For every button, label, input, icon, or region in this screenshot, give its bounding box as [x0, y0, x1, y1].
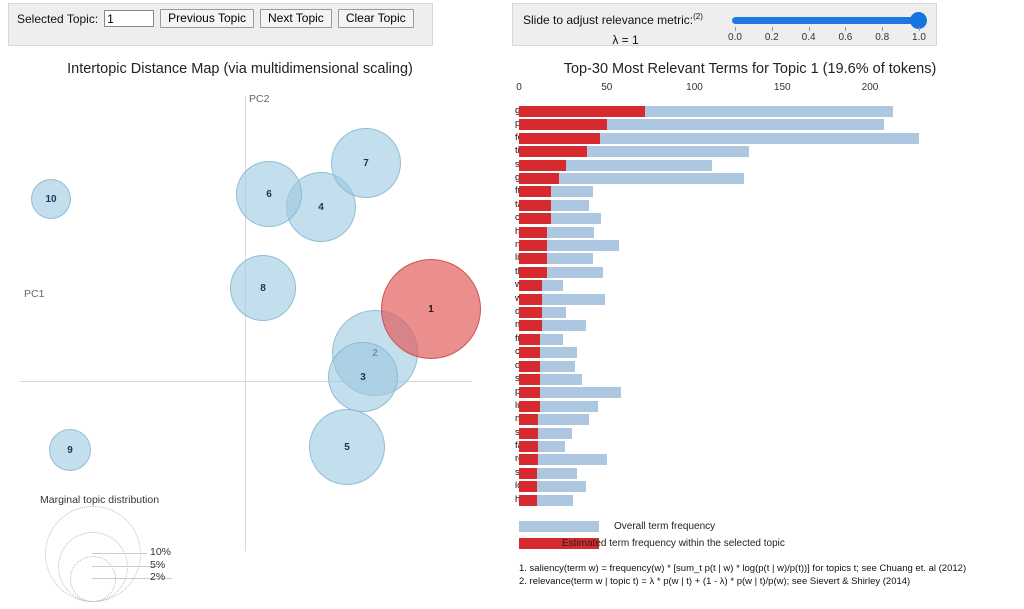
bar-row[interactable]: service	[490, 160, 1024, 172]
x-axis-tick-label: 0	[516, 82, 522, 93]
x-axis-tick-label: 200	[862, 82, 879, 93]
pc2-axis-label: PC2	[249, 93, 269, 105]
estimated-frequency-bar[interactable]	[519, 495, 537, 506]
slider-tick-label: 0.2	[765, 32, 779, 43]
estimated-frequency-bar[interactable]	[519, 240, 547, 251]
bar-row[interactable]: dinner	[490, 361, 1024, 373]
estimated-frequency-bar[interactable]	[519, 374, 540, 385]
slider-tick	[882, 27, 883, 31]
topic-bubble-10[interactable]: 10	[31, 179, 71, 219]
bar-row[interactable]: nice	[490, 240, 1024, 252]
estimated-frequency-bar[interactable]	[519, 361, 540, 372]
estimated-frequency-bar[interactable]	[519, 267, 547, 278]
bar-row[interactable]: small	[490, 468, 1024, 480]
slider-tick-label: 0.4	[802, 32, 816, 43]
pc2-axis-line	[245, 96, 246, 551]
estimated-frequency-bar[interactable]	[519, 213, 551, 224]
legend-swatch-overall	[519, 521, 599, 532]
marginal-topic-distribution-legend: Marginal topic distribution 2%5%10%	[40, 494, 240, 609]
selected-topic-label: Selected Topic:	[17, 12, 98, 26]
estimated-frequency-bar[interactable]	[519, 106, 645, 117]
topic-bubble-6[interactable]: 6	[236, 161, 302, 227]
bar-row[interactable]: cheese	[490, 347, 1024, 359]
relevance-control-bar: Slide to adjust relevance metric:(2) λ =…	[512, 3, 937, 46]
bar-row[interactable]: favorite	[490, 441, 1024, 453]
bar-row[interactable]: mexican	[490, 320, 1024, 332]
bar-row[interactable]: price	[490, 387, 1024, 399]
estimated-frequency-bar[interactable]	[519, 387, 540, 398]
bar-row[interactable]: time	[490, 146, 1024, 158]
estimated-frequency-bar[interactable]	[519, 160, 566, 171]
estimated-frequency-bar[interactable]	[519, 146, 587, 157]
legend-label-estimated: Estimated term frequency within the sele…	[562, 538, 785, 549]
marginal-legend-title: Marginal topic distribution	[40, 494, 240, 506]
slider-caption-text: Slide to adjust relevance metric:	[523, 13, 693, 27]
estimated-frequency-bar[interactable]	[519, 200, 551, 211]
estimated-frequency-bar[interactable]	[519, 468, 537, 479]
bar-row[interactable]: thing	[490, 267, 1024, 279]
previous-topic-button[interactable]: Previous Topic	[160, 9, 254, 28]
slider-tick-label: 0.6	[838, 32, 852, 43]
bar-row[interactable]: happy	[490, 495, 1024, 507]
slider-tick-label: 0.8	[875, 32, 889, 43]
bar-row[interactable]: drink	[490, 307, 1024, 319]
estimated-frequency-bar[interactable]	[519, 414, 538, 425]
bar-row[interactable]: well	[490, 294, 1024, 306]
estimated-frequency-bar[interactable]	[519, 441, 538, 452]
relevance-slider[interactable]: 0.00.20.40.60.81.0	[728, 11, 928, 45]
marginal-size-label: 5%	[150, 559, 165, 571]
bar-row[interactable]: love	[490, 481, 1024, 493]
estimated-frequency-bar[interactable]	[519, 133, 600, 144]
bar-row[interactable]: food	[490, 133, 1024, 145]
bar-chart-x-axis: 050100150200	[490, 82, 1024, 98]
x-axis-tick-label: 50	[601, 82, 612, 93]
estimated-frequency-bar[interactable]	[519, 227, 547, 238]
bar-row[interactable]: water	[490, 280, 1024, 292]
footnote-2: 2. relevance(term w | topic t) = λ * p(w…	[519, 576, 910, 587]
bar-row[interactable]: fry	[490, 334, 1024, 346]
marginal-leader-line	[92, 553, 147, 554]
footnote-1: 1. saliency(term w) = frequency(w) * [su…	[519, 563, 966, 574]
topic-bubble-3[interactable]: 3	[328, 342, 398, 412]
slider-tick	[919, 27, 920, 31]
slider-tick	[735, 27, 736, 31]
marginal-size-label: 10%	[150, 546, 171, 558]
bar-row[interactable]: great	[490, 173, 1024, 185]
slider-tick	[772, 27, 773, 31]
x-axis-tick-label: 100	[686, 82, 703, 93]
selected-topic-input[interactable]	[104, 10, 154, 27]
bar-row[interactable]: sauce	[490, 374, 1024, 386]
bar-row[interactable]: friend	[490, 186, 1024, 198]
topic-bubble-8[interactable]: 8	[230, 255, 296, 321]
slider-tick	[809, 27, 810, 31]
estimated-frequency-bar[interactable]	[519, 481, 537, 492]
bar-row[interactable]: chicken	[490, 213, 1024, 225]
pc1-axis-label: PC1	[24, 288, 44, 300]
estimated-frequency-bar[interactable]	[519, 307, 542, 318]
next-topic-button[interactable]: Next Topic	[260, 9, 332, 28]
estimated-frequency-bar[interactable]	[519, 334, 540, 345]
x-axis-tick-label: 150	[774, 82, 791, 93]
bar-row[interactable]: good	[490, 106, 1024, 118]
bar-row[interactable]: restaurant	[490, 454, 1024, 466]
estimated-frequency-bar[interactable]	[519, 253, 547, 264]
estimated-frequency-bar[interactable]	[519, 294, 542, 305]
estimated-frequency-bar[interactable]	[519, 320, 542, 331]
estimated-frequency-bar[interactable]	[519, 428, 538, 439]
intertopic-map-title: Intertopic Distance Map (via multidimens…	[0, 61, 480, 77]
bar-row[interactable]: place	[490, 119, 1024, 131]
estimated-frequency-bar[interactable]	[519, 186, 551, 197]
intertopic-distance-map: PC2 PC1 12345678910 Marginal topic distr…	[0, 82, 490, 609]
bar-row[interactable]: table	[490, 200, 1024, 212]
bar-row[interactable]: hour	[490, 227, 1024, 239]
marginal-size-label: 2%	[150, 571, 165, 583]
slider-tick-label: 1.0	[912, 32, 926, 43]
estimated-frequency-bar[interactable]	[519, 347, 540, 358]
estimated-frequency-bar[interactable]	[519, 401, 540, 412]
bar-row[interactable]: night	[490, 414, 1024, 426]
lambda-value-label: λ = 1	[523, 33, 728, 47]
slider-tick-label: 0.0	[728, 32, 742, 43]
topic-bubble-5[interactable]: 5	[309, 409, 385, 485]
estimated-frequency-bar[interactable]	[519, 119, 607, 130]
slider-tick	[845, 27, 846, 31]
top-terms-title: Top-30 Most Relevant Terms for Topic 1 (…	[500, 61, 1000, 77]
slider-caption-footnote-ref: (2)	[693, 12, 703, 21]
topic-bubble-9[interactable]: 9	[49, 429, 91, 471]
topic-bubble-7[interactable]: 7	[331, 128, 401, 198]
bar-row[interactable]: lunch	[490, 401, 1024, 413]
estimated-frequency-bar[interactable]	[519, 173, 559, 184]
bar-row[interactable]: sandwich	[490, 428, 1024, 440]
slider-track[interactable]	[732, 17, 924, 24]
estimated-frequency-bar[interactable]	[519, 280, 542, 291]
clear-topic-button[interactable]: Clear Topic	[338, 9, 414, 28]
slider-caption: Slide to adjust relevance metric:(2)	[523, 12, 703, 27]
top-terms-bar-chart: 050100150200 goodplacefoodtimeservicegre…	[490, 82, 1024, 609]
estimated-frequency-bar[interactable]	[519, 454, 538, 465]
marginal-ring-10pct	[45, 506, 141, 602]
bar-row[interactable]: little	[490, 253, 1024, 265]
legend-label-overall: Overall term frequency	[614, 521, 715, 532]
topic-bubble-1[interactable]: 1	[381, 259, 481, 359]
topic-control-bar: Selected Topic: Previous Topic Next Topi…	[8, 3, 433, 46]
